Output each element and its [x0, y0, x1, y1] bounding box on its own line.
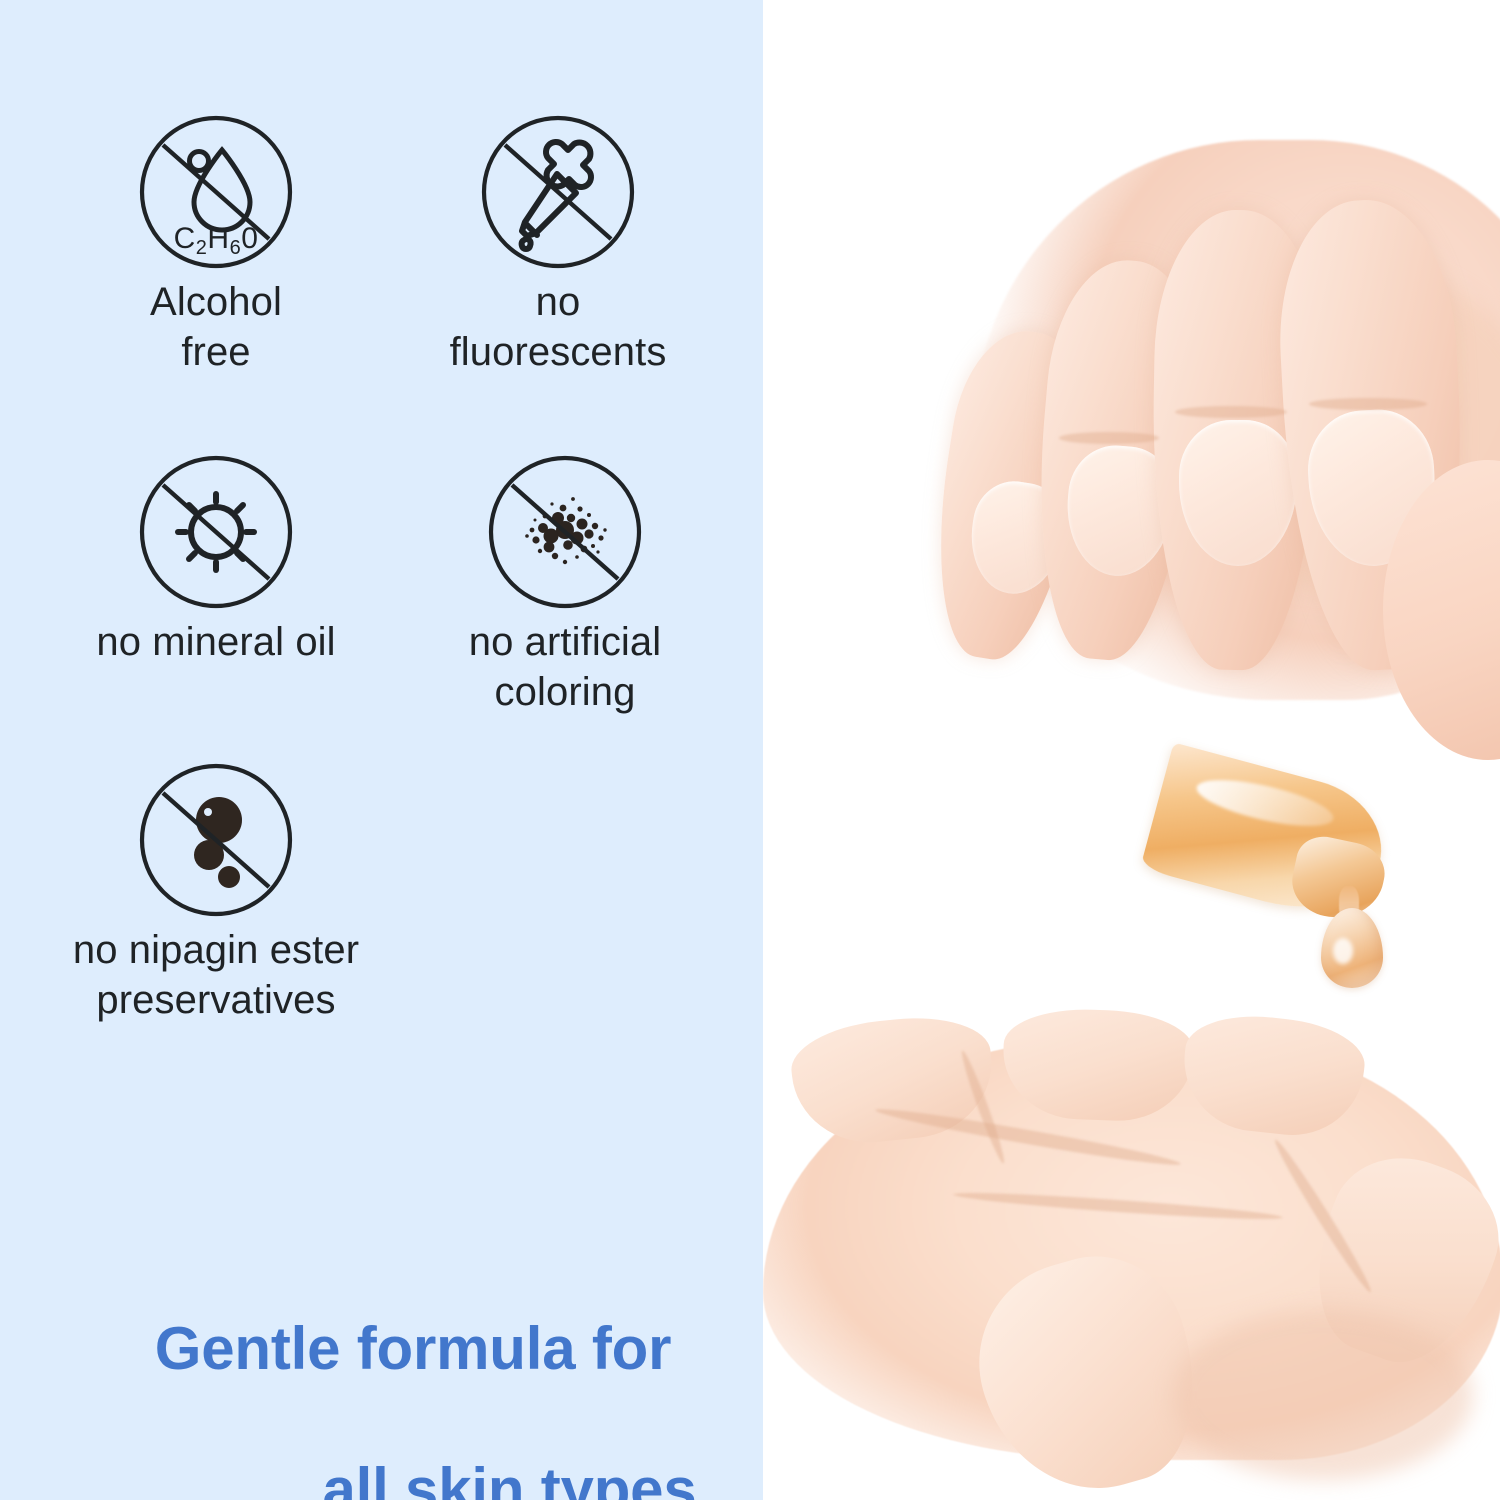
- badge-no-artificial-coloring: no artificial coloring: [390, 452, 740, 718]
- svg-text:C2H60: C2H60: [174, 222, 259, 259]
- no-fluorescents-icon: [383, 112, 733, 277]
- tagline-line-2: all skin types.: [113, 1455, 713, 1500]
- badge-no-fluorescents: no fluorescents: [383, 112, 733, 378]
- marketing-infographic: C2H60 Alcohol free: [0, 0, 1500, 1500]
- finger-crease: [1175, 406, 1287, 418]
- badge-no-mineral-oil: no mineral oil: [41, 452, 391, 667]
- finger-crease: [1059, 432, 1159, 444]
- tagline: Gentle formula for all skin types.: [113, 1243, 713, 1500]
- hand-holding-ampoule: [823, 80, 1500, 900]
- badge-label-no-artificial-coloring: no artificial coloring: [469, 620, 662, 714]
- badge-label-alcohol-free: Alcohol free: [150, 280, 282, 374]
- badge-caption-wrap: no mineral oil: [96, 642, 335, 659]
- no-mineral-oil-icon: [41, 452, 391, 617]
- no-alcohol-icon: C2H60: [41, 112, 391, 277]
- badge-caption-wrap: no nipagin ester preservatives: [73, 950, 359, 1017]
- badge-caption-wrap: Alcohol free: [150, 302, 282, 369]
- no-artificial-coloring-icon: [390, 452, 740, 617]
- tagline-line-1: Gentle formula for: [113, 1314, 713, 1385]
- badge-caption-wrap: no artificial coloring: [469, 642, 662, 709]
- badge-caption-wrap: no fluorescents: [450, 302, 667, 369]
- no-nipagin-preservatives-icon: [41, 760, 391, 925]
- product-photo: Gentle and Non-Irritating Formula: [763, 0, 1500, 1500]
- claims-panel: C2H60 Alcohol free: [0, 0, 763, 1500]
- badge-alcohol-free: C2H60 Alcohol free: [41, 112, 391, 378]
- badge-label-no-fluorescents: no fluorescents: [450, 280, 667, 374]
- finger-crease: [1309, 398, 1427, 410]
- badge-label-no-mineral-oil: no mineral oil: [96, 620, 335, 664]
- badge-label-no-nipagin-preservatives: no nipagin ester preservatives: [73, 928, 359, 1022]
- amber-serum-droplet: [1321, 908, 1383, 988]
- badge-no-nipagin-preservatives: no nipagin ester preservatives: [41, 760, 391, 1026]
- palm-shadow: [1173, 1310, 1473, 1480]
- open-palm: [763, 1010, 1500, 1500]
- claims-badge-grid: C2H60 Alcohol free: [0, 0, 763, 1060]
